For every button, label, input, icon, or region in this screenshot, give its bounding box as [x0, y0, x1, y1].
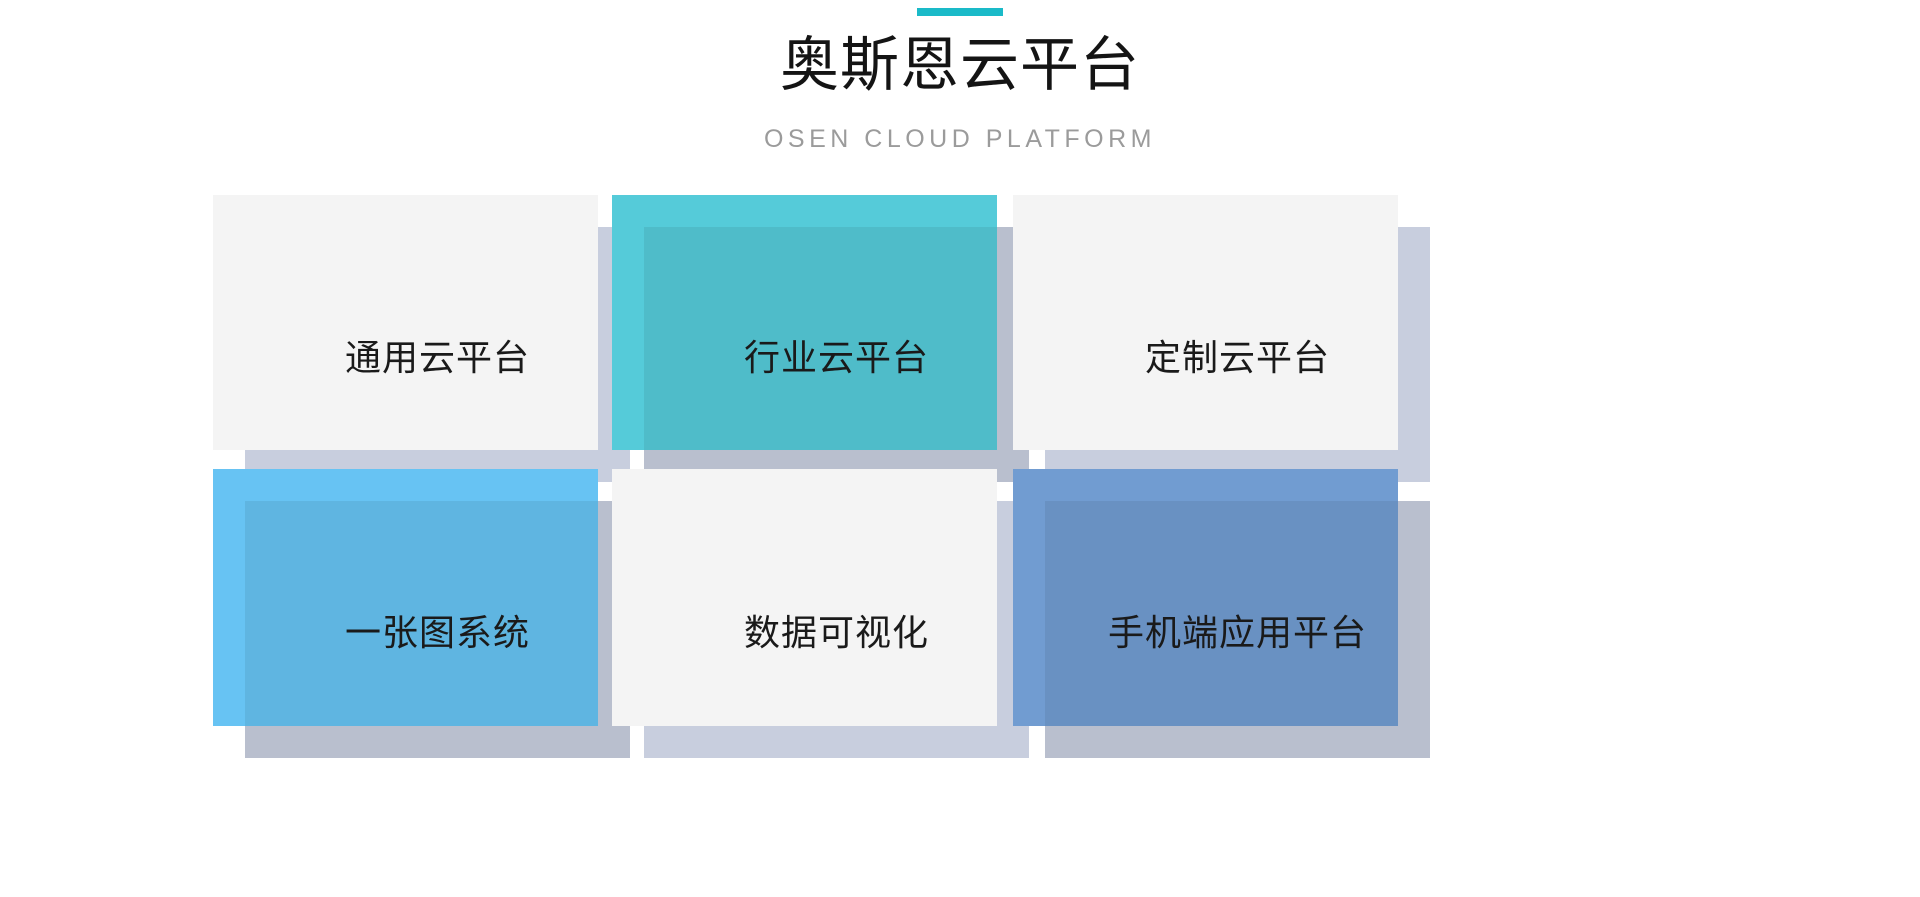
platform-card-mobile-application-platform[interactable]: 手机端应用平台	[1013, 469, 1398, 726]
card-label: 手机端应用平台	[1045, 501, 1430, 758]
platform-card-custom-cloud-platform[interactable]: 定制云平台	[1013, 195, 1398, 450]
platform-card-industry-cloud-platform[interactable]: 行业云平台	[612, 195, 997, 450]
card-label: 一张图系统	[245, 501, 630, 758]
platform-card-grid: 通用云平台 行业云平台 定制云平台 一张图系统 数据可视化	[0, 0, 1920, 897]
platform-card-one-map-system[interactable]: 一张图系统	[213, 469, 598, 726]
card-label: 行业云平台	[644, 227, 1029, 482]
card-label: 通用云平台	[245, 227, 630, 482]
platform-card-general-cloud-platform[interactable]: 通用云平台	[213, 195, 598, 450]
card-label: 数据可视化	[644, 501, 1029, 758]
platform-card-data-visualization[interactable]: 数据可视化	[612, 469, 997, 726]
page-root: 奥斯恩云平台 OSEN CLOUD PLATFORM 通用云平台 行业云平台 定…	[0, 0, 1920, 897]
card-label: 定制云平台	[1045, 227, 1430, 482]
